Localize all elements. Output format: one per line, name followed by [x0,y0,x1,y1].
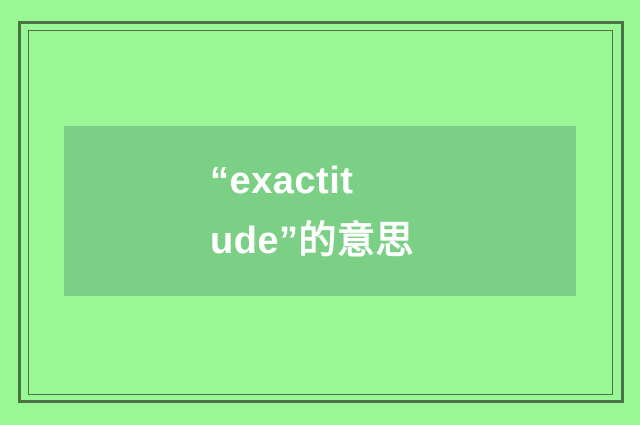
poster-canvas: “exactit ude”的意思 [0,0,640,425]
title-panel: “exactit ude”的意思 [64,126,576,296]
title-line-2: ude”的意思 [64,211,576,271]
title-line-1: “exactit [64,151,576,211]
